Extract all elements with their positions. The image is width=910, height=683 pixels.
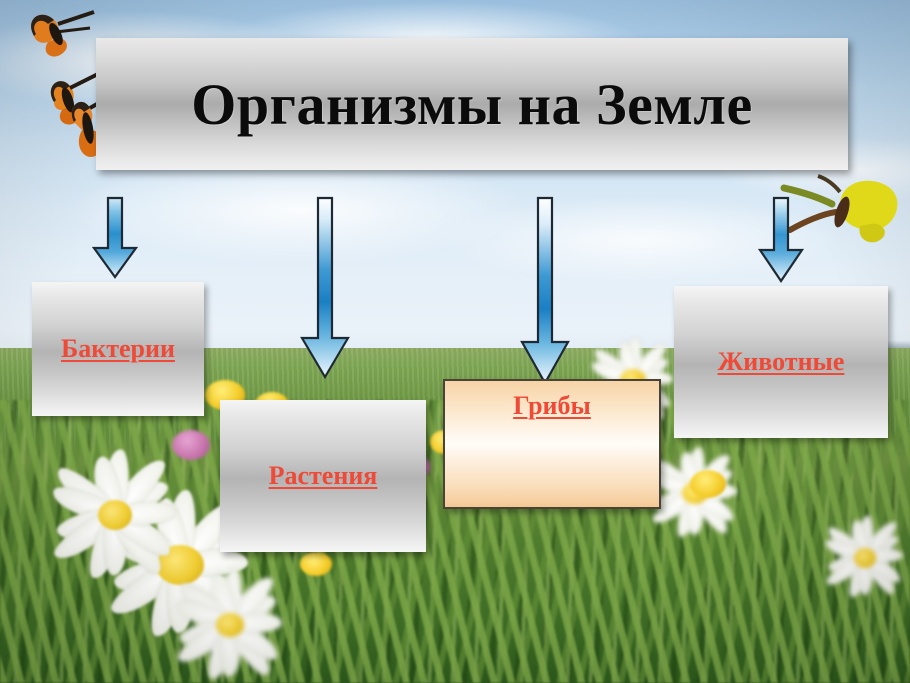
title-box: Организмы на Земле — [96, 38, 848, 170]
category-box-animals[interactable]: Животные — [674, 286, 888, 438]
arrow-down-to-fungi — [518, 196, 572, 386]
category-label-plants: Растения — [269, 461, 378, 491]
page-title: Организмы на Земле — [191, 71, 752, 138]
arrow-down-icon — [518, 196, 572, 386]
slide-canvas: Организмы на Земле Бактерии Растения Гри… — [0, 0, 910, 683]
arrow-down-icon — [754, 196, 808, 284]
arrow-down-icon — [298, 196, 352, 380]
butterfly-icon — [31, 12, 94, 57]
category-label-fungi: Грибы — [513, 391, 591, 421]
category-box-bacteria[interactable]: Бактерии — [32, 282, 204, 416]
category-label-animals: Животные — [718, 347, 845, 377]
arrow-down-to-animals — [754, 196, 808, 284]
category-box-fungi[interactable]: Грибы — [443, 379, 661, 509]
category-label-bacteria: Бактерии — [61, 334, 175, 364]
arrow-down-icon — [88, 196, 142, 280]
arrow-down-to-bacteria — [88, 196, 142, 280]
monarch-butterfly-1 — [18, 6, 100, 64]
arrow-down-to-plants — [298, 196, 352, 380]
category-box-plants[interactable]: Растения — [220, 400, 426, 552]
